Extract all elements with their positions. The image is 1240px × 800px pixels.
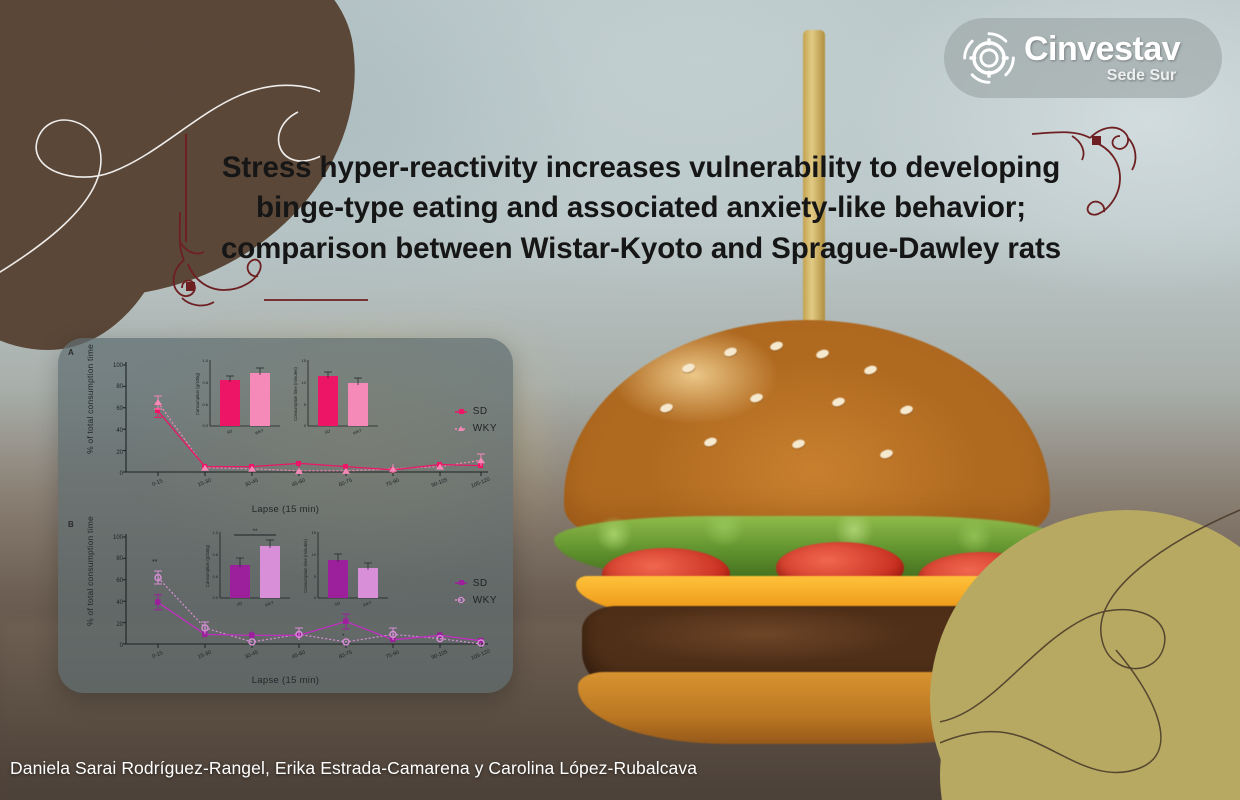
svg-text:SD: SD (334, 600, 341, 607)
svg-text:Consumption time (minutes): Consumption time (minutes) (303, 538, 308, 592)
svg-text:0.6: 0.6 (202, 402, 208, 407)
svg-text:WKY: WKY (264, 599, 275, 607)
panel-a-xlabel: Lapse (15 min) (66, 504, 505, 515)
svg-text:30-45: 30-45 (244, 478, 259, 489)
panel-b-annotation-sig1: ** (152, 559, 158, 566)
poster-canvas: Cinvestav Sede Sur Stress hyper-reactivi… (0, 0, 1240, 800)
svg-text:15-30: 15-30 (197, 649, 212, 660)
authors-line: Daniela Sarai Rodríguez-Rangel, Erika Es… (10, 758, 697, 779)
svg-text:0.8: 0.8 (212, 552, 218, 557)
svg-text:60: 60 (116, 406, 123, 412)
svg-text:WKY: WKY (352, 427, 363, 435)
panel-b-xlabel: Lapse (15 min) (66, 675, 505, 686)
title-line-3: comparison between Wistar-Kyoto and Spra… (176, 229, 1106, 269)
svg-text:40: 40 (116, 600, 123, 606)
svg-text:0.8: 0.8 (202, 380, 208, 385)
svg-text:10: 10 (312, 552, 317, 557)
legend-label-sd: SD (473, 578, 488, 589)
svg-text:15: 15 (312, 530, 317, 535)
svg-text:WKY: WKY (254, 427, 265, 435)
svg-text:20: 20 (116, 622, 123, 628)
svg-text:0.0: 0.0 (202, 423, 208, 428)
svg-text:SD: SD (226, 428, 233, 435)
panel-a-letter: A (68, 348, 74, 357)
legend-marker-square-icon (455, 579, 467, 587)
svg-text:80: 80 (116, 384, 123, 390)
logo-subtitle: Sede Sur (1107, 68, 1176, 84)
logo-name: Cinvestav (1024, 32, 1180, 66)
panel-b-legend: SD WKY (455, 578, 497, 606)
svg-text:Consumption (g/100g): Consumption (g/100g) (205, 544, 210, 587)
svg-text:5: 5 (314, 574, 317, 579)
legend-item-sd: SD (455, 578, 497, 589)
legend-label-wky: WKY (473, 423, 497, 434)
svg-text:0.0: 0.0 (212, 595, 218, 600)
svg-text:105-120: 105-120 (470, 648, 491, 661)
svg-text:10: 10 (302, 380, 307, 385)
svg-text:105-120: 105-120 (470, 477, 491, 490)
svg-text:90-105: 90-105 (431, 477, 449, 489)
panel-a-inset-2: 1510 50 Consumption time (minutes) SD (293, 358, 378, 436)
svg-text:1.0: 1.0 (212, 530, 218, 535)
svg-text:45-60: 45-60 (291, 649, 306, 660)
panel-a-plot: 020 4060 80100 (92, 354, 504, 504)
cinvestav-gear-icon (960, 29, 1018, 87)
figure-panel-b: B % of total consumption time 020 4060 8… (66, 516, 505, 688)
svg-text:75-90: 75-90 (385, 649, 400, 660)
panel-b-plot: 020 4060 80100 (92, 526, 504, 676)
poster-title: Stress hyper-reactivity increases vulner… (176, 148, 1106, 269)
svg-text:75-90: 75-90 (385, 478, 400, 489)
svg-text:100: 100 (113, 363, 124, 369)
svg-text:20: 20 (116, 450, 123, 456)
legend-marker-square-icon (455, 408, 467, 416)
dark-swirl-line (940, 500, 1240, 790)
panel-b-inset-2: 1510 50 Consumption time (minutes) SD (303, 530, 388, 608)
svg-text:60: 60 (116, 578, 123, 584)
svg-text:80: 80 (116, 556, 123, 562)
panel-a-inset-1: 1.00.8 0.60.0 Consumption (g/100g) SD (195, 358, 280, 436)
svg-text:60-75: 60-75 (338, 649, 353, 660)
svg-text:Consumption time (minutes): Consumption time (minutes) (293, 367, 298, 421)
inset-significance: ** (253, 529, 258, 535)
svg-text:45-60: 45-60 (291, 478, 306, 489)
svg-text:0: 0 (314, 595, 317, 600)
svg-text:15-30: 15-30 (197, 478, 212, 489)
svg-text:15: 15 (302, 358, 307, 363)
svg-text:1.0: 1.0 (202, 358, 208, 363)
svg-text:100: 100 (113, 535, 124, 541)
svg-text:0.6: 0.6 (212, 574, 218, 579)
legend-item-wky: WKY (455, 423, 497, 434)
panel-b-inset-1: 1.00.8 0.60.0 Consumption (g/100g) ** (205, 529, 290, 608)
svg-text:Consumption (g/100g): Consumption (g/100g) (195, 372, 200, 415)
svg-text:40: 40 (116, 428, 123, 434)
figure-panel-a: A % of total consumption time 020 4060 8… (66, 344, 505, 516)
legend-marker-circle-icon (455, 596, 467, 604)
legend-item-sd: SD (455, 406, 497, 417)
panel-a-legend: SD WKY (455, 406, 497, 434)
figure-card[interactable]: A % of total consumption time 020 4060 8… (58, 338, 513, 693)
svg-text:0-15: 0-15 (151, 650, 163, 660)
title-line-1: Stress hyper-reactivity increases vulner… (176, 148, 1106, 188)
svg-text:5: 5 (304, 402, 307, 407)
svg-text:0: 0 (304, 423, 307, 428)
svg-text:SD: SD (324, 428, 331, 435)
legend-label-wky: WKY (473, 595, 497, 606)
svg-text:30-45: 30-45 (244, 649, 259, 660)
legend-label-sd: SD (473, 406, 488, 417)
cinvestav-logo[interactable]: Cinvestav Sede Sur (944, 18, 1222, 98)
legend-item-wky: WKY (455, 595, 497, 606)
svg-text:90-105: 90-105 (431, 649, 449, 661)
title-line-2: binge-type eating and associated anxiety… (176, 188, 1106, 228)
svg-text:60-75: 60-75 (338, 478, 353, 489)
legend-marker-triangle-icon (455, 425, 467, 433)
svg-text:WKY: WKY (362, 599, 373, 607)
svg-text:SD: SD (236, 600, 243, 607)
svg-text:0-15: 0-15 (151, 478, 163, 488)
panel-b-letter: B (68, 520, 74, 529)
